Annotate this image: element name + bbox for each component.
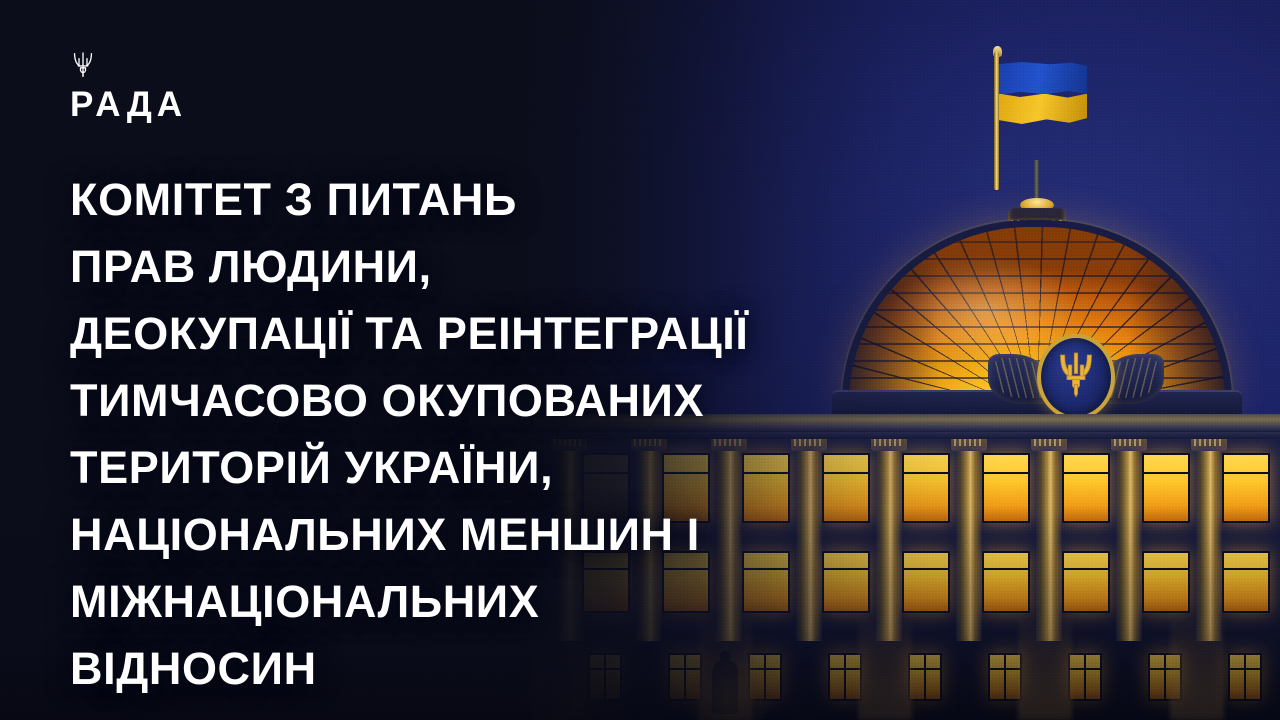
banner-canvas: РАДА КОМІТЕТ З ПИТАНЬ ПРАВ ЛЮДИНИ, ДЕОКУ…: [0, 0, 1280, 720]
title-line: МІЖНАЦІОНАЛЬНИХ: [70, 568, 990, 635]
brand-name: РАДА: [70, 87, 430, 122]
title-line: ВІДНОСИН: [70, 635, 990, 702]
tryzub-trident-icon: [70, 50, 96, 80]
title-line: ПРАВ ЛЮДИНИ,: [70, 233, 990, 300]
title-line: ДЕОКУПАЦІЇ ТА РЕІНТЕГРАЦІЇ: [70, 300, 990, 367]
rada-brand-logo: РАДА: [70, 50, 430, 122]
overlay-content: РАДА КОМІТЕТ З ПИТАНЬ ПРАВ ЛЮДИНИ, ДЕОКУ…: [0, 0, 1280, 720]
page-title: КОМІТЕТ З ПИТАНЬ ПРАВ ЛЮДИНИ, ДЕОКУПАЦІЇ…: [70, 166, 990, 702]
title-line: ТИМЧАСОВО ОКУПОВАНИХ: [70, 367, 990, 434]
title-line: КОМІТЕТ З ПИТАНЬ: [70, 166, 990, 233]
title-line: ТЕРИТОРІЙ УКРАЇНИ,: [70, 434, 990, 501]
title-line: НАЦІОНАЛЬНИХ МЕНШИН І: [70, 501, 990, 568]
